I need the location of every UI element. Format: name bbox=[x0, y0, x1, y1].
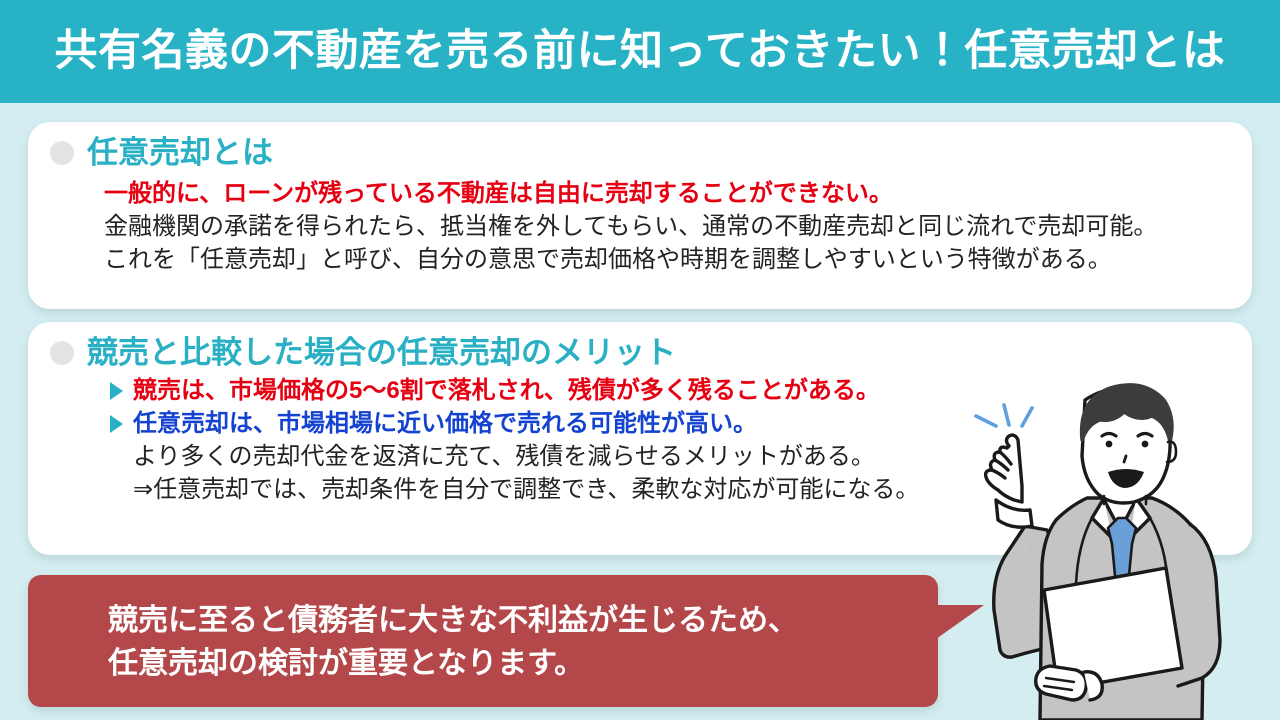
card-2-bullet-2-text: 任意売却は、市場相場に近い価格で売れる可能性が高い。 bbox=[133, 407, 757, 440]
card-2-heading-row: 競売と比較した場合の任意売却のメリット bbox=[28, 322, 1252, 370]
card-merit-vs-keibai: 競売と比較した場合の任意売却のメリット 競売は、市場価格の5〜6割で落札され、残… bbox=[28, 322, 1252, 555]
card-1-line-2: 金融機関の承諾を得られたら、抵当権を外してもらい、通常の不動産売却と同じ流れで売… bbox=[104, 210, 1252, 243]
card-nini-baikyaku-towa: 任意売却とは 一般的に、ローンが残っている不動産は自由に売却することができない。… bbox=[28, 122, 1252, 309]
triangle-bullet-icon bbox=[110, 382, 123, 400]
card-2-body: 競売は、市場価格の5〜6割で落札され、残債が多く残ることがある。 任意売却は、市… bbox=[28, 370, 1252, 506]
card-1-heading: 任意売却とは bbox=[87, 136, 273, 170]
callout-line-2: 任意売却の検討が重要となります。 bbox=[108, 642, 938, 685]
card-2-sub-line-2: ⇒任意売却では、売却条件を自分で調整でき、柔軟な対応が可能になる。 bbox=[110, 473, 1252, 506]
page-title: 共有名義の不動産を売る前に知っておきたい！任意売却とは bbox=[54, 30, 1225, 73]
callout-text: 競売に至ると債務者に大きな不利益が生じるため、 任意売却の検討が重要となります。 bbox=[28, 575, 938, 685]
slide-root: 共有名義の不動産を売る前に知っておきたい！任意売却とは 任意売却とは 一般的に、… bbox=[0, 0, 1280, 720]
triangle-bullet-icon bbox=[110, 415, 123, 433]
card-1-line-1: 一般的に、ローンが残っている不動産は自由に売却することができない。 bbox=[104, 177, 1252, 210]
callout-tail-icon bbox=[936, 605, 984, 639]
gray-dot-icon bbox=[50, 141, 74, 165]
card-2-heading: 競売と比較した場合の任意売却のメリット bbox=[87, 336, 676, 370]
card-2-sub-line-1: より多くの売却代金を返済に充て、残債を減らせるメリットがある。 bbox=[110, 440, 1252, 473]
card-1-body: 一般的に、ローンが残っている不動産は自由に売却することができない。 金融機関の承… bbox=[28, 170, 1252, 276]
card-1-line-3: これを「任意売却」と呼び、自分の意思で売却価格や時期を調整しやすいという特徴があ… bbox=[104, 243, 1252, 276]
card-2-bullet-1-text: 競売は、市場価格の5〜6割で落札され、残債が多く残ることがある。 bbox=[133, 374, 880, 407]
card-2-bullet-2: 任意売却は、市場相場に近い価格で売れる可能性が高い。 bbox=[110, 407, 1252, 440]
card-1-heading-row: 任意売却とは bbox=[28, 122, 1252, 170]
callout-line-1: 競売に至ると債務者に大きな不利益が生じるため、 bbox=[108, 599, 938, 642]
gray-dot-icon bbox=[50, 341, 74, 365]
callout-banner: 競売に至ると債務者に大きな不利益が生じるため、 任意売却の検討が重要となります。 bbox=[28, 575, 938, 707]
card-2-bullet-1: 競売は、市場価格の5〜6割で落札され、残債が多く残ることがある。 bbox=[110, 374, 1252, 407]
slide-header: 共有名義の不動産を売る前に知っておきたい！任意売却とは bbox=[0, 0, 1280, 103]
